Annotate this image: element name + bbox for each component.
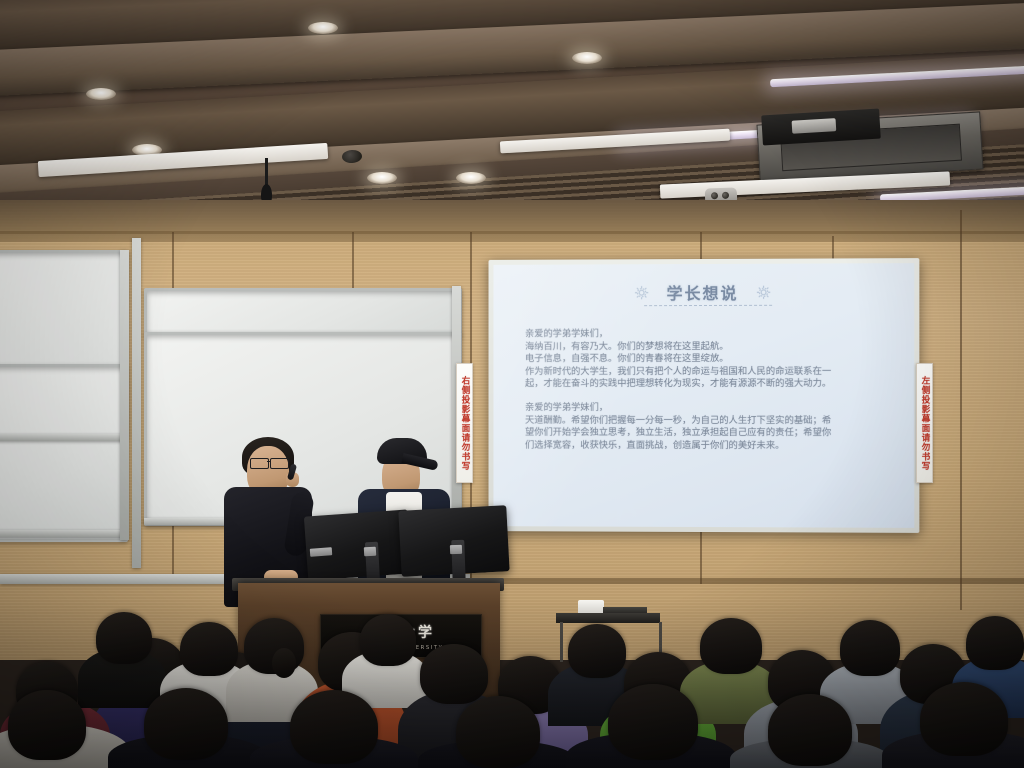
presentation-slide: 学长想说 亲爱的学弟学妹们， 海纳百川，有容乃大。你们的梦想将在这里起航。 电子… [493, 263, 914, 528]
slide-line: 们选择宽容，收获快乐，直面挑战，创造属于你们的美好未来。 [525, 440, 892, 453]
eyeglasses-bridge [267, 461, 271, 462]
ceiling-downlight [572, 52, 602, 64]
whiteboard-panel [144, 288, 462, 336]
sign-text: 左侧投影幕面请勿书写 [919, 376, 930, 471]
audience-head [608, 684, 698, 760]
slide-line: 亲爱的学弟学妹们， [525, 328, 892, 341]
ceiling-downlight [308, 22, 338, 34]
monitor-logo [450, 545, 462, 554]
monitor-label [310, 547, 333, 557]
audience-head [180, 622, 238, 676]
slide-title: 学长想说 [667, 280, 739, 304]
projection-warning-sign-right: 左侧投影幕面请勿书写 [916, 363, 933, 483]
slide-line: 作为新时代的大学生，我们只有把个人的命运与祖国和人民的命运联系在一 [525, 366, 892, 379]
ceiling-downlight [456, 172, 486, 184]
eyeglasses-icon [250, 458, 269, 469]
sign-text: 右侧投影幕面请勿书写 [459, 376, 470, 471]
slide-line: 望你们开始学会独立思考，独立生活，独立承担起自己应有的责任；希望你 [525, 427, 892, 440]
eyeglasses-icon [270, 458, 289, 469]
whiteboard-post [120, 250, 129, 540]
monitor-logo [364, 547, 376, 557]
slide-body: 亲爱的学弟学妹们， 海纳百川，有容乃大。你们的梦想将在这里起航。 电子信息，自强… [525, 328, 892, 464]
audience-head [144, 688, 228, 760]
audience-head [966, 616, 1024, 670]
slide-paragraph-1: 亲爱的学弟学妹们， 海纳百川，有容乃大。你们的梦想将在这里起航。 电子信息，自强… [525, 328, 892, 391]
slide-line: 起，才能在奋斗的实践中把理想转化为现实，才能有源源不断的强大动力。 [525, 378, 892, 391]
audience-head [360, 614, 416, 666]
hanging-microphone-icon [265, 158, 268, 186]
audience-head [8, 690, 86, 760]
whiteboard-rail [0, 434, 124, 441]
audience-head [568, 624, 626, 678]
ceiling-downlight [86, 88, 116, 100]
slide-title-row: 学长想说 [493, 279, 914, 304]
audience-head [920, 682, 1008, 756]
slide-line: 电子信息，自强不息。你们的青春将在这里绽放。 [525, 353, 892, 366]
ceiling [0, 0, 1024, 215]
projection-warning-sign-left: 右侧投影幕面请勿书写 [456, 363, 473, 483]
audience-hair-bun [272, 648, 296, 678]
monitor [304, 509, 412, 580]
audience-head [96, 612, 152, 664]
ceiling-downlight [367, 172, 397, 184]
audience-head [840, 620, 900, 676]
audience-head [768, 694, 852, 766]
projection-screen: 学长想说 亲爱的学弟学妹们， 海纳百川，有容乃大。你们的梦想将在这里起航。 电子… [489, 258, 920, 533]
whiteboard-post [132, 238, 141, 568]
flower-gear-icon [634, 284, 651, 301]
wall-upper-shadow [0, 200, 1024, 242]
whiteboard-panel [0, 364, 128, 542]
slide-title-underline [644, 304, 772, 306]
wall-seam [960, 210, 962, 610]
slide-line: 海纳百川，有容乃大。你们的梦想将在这里起航。 [525, 340, 892, 353]
flower-gear-icon [755, 283, 772, 300]
audience-head [290, 690, 378, 764]
audience-head [456, 696, 540, 768]
audience-head [700, 618, 762, 674]
slide-line: 天道酬勤。希望你们把握每一分每一秒，为自己的人生打下坚实的基础；希 [525, 414, 892, 427]
lecture-hall-photo: 学长想说 亲爱的学弟学妹们， 海纳百川，有容乃大。你们的梦想将在这里起航。 电子… [0, 0, 1024, 768]
audience-head [420, 644, 488, 704]
wall-seam-horizontal [0, 231, 1024, 234]
slide-line: 亲爱的学弟学妹们， [525, 402, 892, 415]
whiteboard-rail [0, 530, 124, 537]
slide-paragraph-2: 亲爱的学弟学妹们， 天道酬勤。希望你们把握每一分每一秒，为自己的人生打下坚实的基… [525, 402, 892, 453]
